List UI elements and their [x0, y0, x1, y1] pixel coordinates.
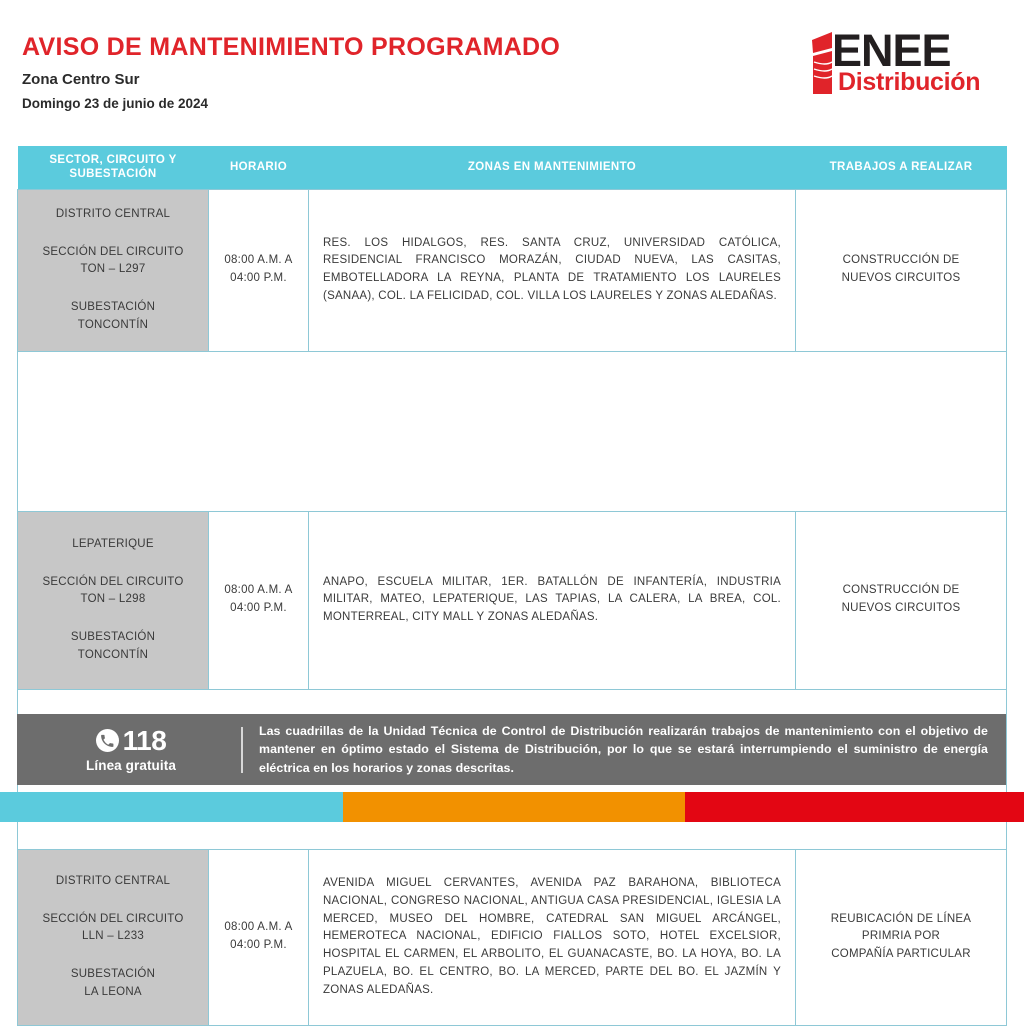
- sector-line: DISTRITO CENTRAL: [28, 206, 198, 224]
- cell-zonas: RES. LOS HIDALGOS, RES. SANTA CRUZ, UNIV…: [309, 189, 796, 351]
- color-segment-cyan: [0, 792, 343, 822]
- bottom-color-bar: [0, 792, 1024, 822]
- logo-brand-text: ENEE: [832, 28, 951, 73]
- sector-line: SUBESTACIÓNLA LEONA: [28, 966, 198, 1002]
- cell-trabajos: CONSTRUCCIÓN DENUEVOS CIRCUITOS: [796, 511, 1007, 689]
- sector-line: SUBESTACIÓNTONCONTÍN: [28, 629, 198, 665]
- maintenance-table-wrapper: SECTOR, CIRCUITO Y SUBESTACIÓN HORARIO Z…: [17, 146, 1006, 1026]
- table-row: DISTRITO CENTRAL SECCIÓN DEL CIRCUITOTON…: [18, 189, 1007, 351]
- sector-line: SECCIÓN DEL CIRCUITOLLN – L233: [28, 911, 198, 947]
- phone-row: 118: [21, 727, 241, 755]
- phone-handset-icon: [96, 729, 119, 752]
- maintenance-table: SECTOR, CIRCUITO Y SUBESTACIÓN HORARIO Z…: [17, 146, 1007, 1026]
- table-row: DISTRITO CENTRAL SECCIÓN DEL CIRCUITOLLN…: [18, 849, 1007, 1025]
- sector-line: SUBESTACIÓNTONCONTÍN: [28, 299, 198, 335]
- color-segment-red: [685, 792, 1024, 822]
- column-header-zonas: ZONAS EN MANTENIMIENTO: [309, 146, 796, 189]
- cell-horario: 08:00 A.M. A04:00 P.M.: [209, 189, 309, 351]
- table-header-row: SECTOR, CIRCUITO Y SUBESTACIÓN HORARIO Z…: [18, 146, 1007, 189]
- table-row: LEPATERIQUE SECCIÓN DEL CIRCUITOTON – L2…: [18, 511, 1007, 689]
- phone-number: 118: [123, 727, 167, 755]
- column-header-sector: SECTOR, CIRCUITO Y SUBESTACIÓN: [18, 146, 209, 189]
- row-spacer: [18, 351, 1007, 511]
- logo-sub-text: Distribución: [838, 70, 980, 95]
- cell-trabajos: CONSTRUCCIÓN DENUEVOS CIRCUITOS: [796, 189, 1007, 351]
- cell-zonas: AVENIDA MIGUEL CERVANTES, AVENIDA PAZ BA…: [309, 849, 796, 1025]
- cell-sector: DISTRITO CENTRAL SECCIÓN DEL CIRCUITOTON…: [18, 189, 209, 351]
- footer-phone-block: 118 Línea gratuita: [17, 727, 241, 773]
- phone-label: Línea gratuita: [21, 758, 241, 773]
- cell-trabajos: REUBICACIÓN DE LÍNEAPRIMRIA PORCOMPAÑÍA …: [796, 849, 1007, 1025]
- enee-logo: ENEE Distribución: [796, 30, 996, 96]
- column-header-horario: HORARIO: [209, 146, 309, 189]
- zone-subtitle: Zona Centro Sur: [22, 72, 560, 88]
- page-header: AVISO DE MANTENIMIENTO PROGRAMADO Zona C…: [0, 0, 1024, 140]
- cell-horario: 08:00 A.M. A04:00 P.M.: [209, 511, 309, 689]
- footer-message: Las cuadrillas de la Unidad Técnica de C…: [243, 722, 1006, 778]
- cell-sector: DISTRITO CENTRAL SECCIÓN DEL CIRCUITOLLN…: [18, 849, 209, 1025]
- footer-bar: 118 Línea gratuita Las cuadrillas de la …: [17, 714, 1006, 785]
- cell-zonas: ANAPO, ESCUELA MILITAR, 1ER. BATALLÓN DE…: [309, 511, 796, 689]
- cell-sector: LEPATERIQUE SECCIÓN DEL CIRCUITOTON – L2…: [18, 511, 209, 689]
- cell-horario: 08:00 A.M. A04:00 P.M.: [209, 849, 309, 1025]
- notice-date: Domingo 23 de junio de 2024: [22, 97, 560, 111]
- sector-line: SECCIÓN DEL CIRCUITOTON – L298: [28, 574, 198, 610]
- sector-line: LEPATERIQUE: [28, 536, 198, 554]
- sector-line: DISTRITO CENTRAL: [28, 873, 198, 891]
- color-segment-orange: [343, 792, 685, 822]
- header-text-block: AVISO DE MANTENIMIENTO PROGRAMADO Zona C…: [22, 34, 560, 111]
- column-header-trabajos: TRABAJOS A REALIZAR: [796, 146, 1007, 189]
- page-title: AVISO DE MANTENIMIENTO PROGRAMADO: [22, 34, 560, 60]
- sector-line: SECCIÓN DEL CIRCUITOTON – L297: [28, 244, 198, 280]
